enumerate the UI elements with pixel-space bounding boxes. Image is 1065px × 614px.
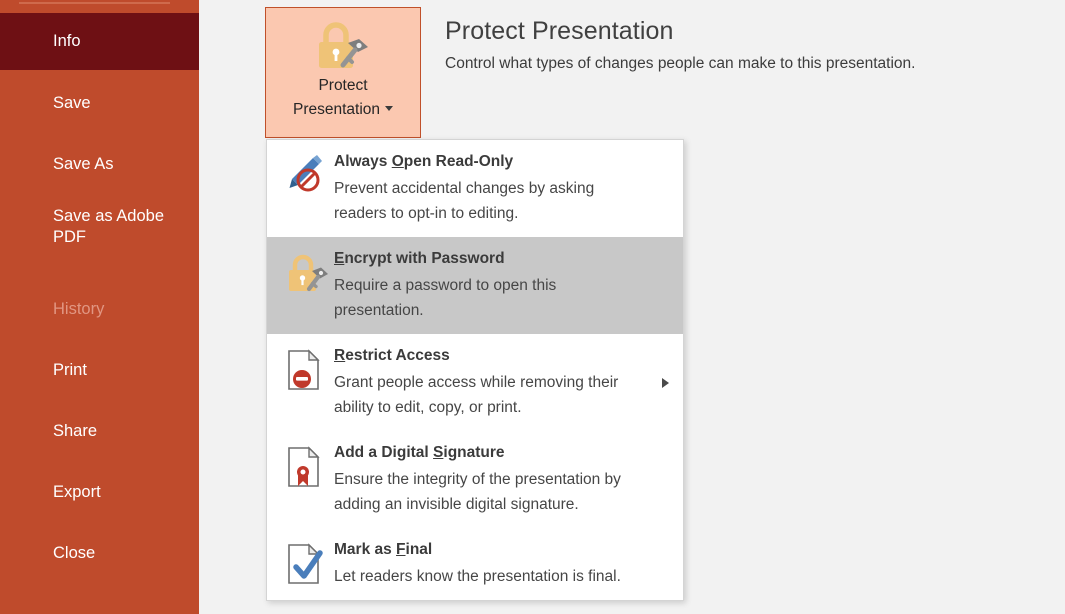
menu-item-description: Ensure the integrity of the presentation… bbox=[334, 467, 634, 517]
sidebar-item-cutoff-above[interactable] bbox=[0, 0, 199, 13]
menu-item-text: Always Open Read-Only Prevent accidental… bbox=[332, 151, 673, 226]
menu-item-description: Require a password to open this presenta… bbox=[334, 273, 634, 323]
sidebar-item-label: Info bbox=[53, 31, 81, 52]
sidebar-item-label: Print bbox=[53, 360, 87, 381]
sidebar-item-label: Save bbox=[53, 93, 91, 114]
protect-presentation-button[interactable]: Protect Presentation bbox=[265, 7, 421, 138]
document-signature-icon bbox=[284, 444, 332, 490]
menu-item-description: Prevent accidental changes by asking rea… bbox=[334, 176, 634, 226]
protect-presentation-button-label: Protect Presentation bbox=[293, 74, 393, 122]
document-check-icon bbox=[284, 541, 332, 587]
menu-item-title: Always Open Read-Only bbox=[334, 153, 513, 170]
menu-item-description: Let readers know the presentation is fin… bbox=[334, 564, 634, 589]
chevron-down-icon bbox=[385, 106, 393, 111]
sidebar-item-label: Save as Adobe PDF bbox=[53, 206, 164, 248]
page-subtitle: Control what types of changes people can… bbox=[445, 55, 915, 73]
sidebar-item-save-as-adobe-pdf[interactable]: Save as Adobe PDF bbox=[0, 203, 199, 265]
menu-item-title: Add a Digital Signature bbox=[334, 444, 505, 461]
protect-presentation-dropdown-menu: Always Open Read-Only Prevent accidental… bbox=[266, 139, 684, 601]
menu-item-text: Restrict Access Grant people access whil… bbox=[332, 345, 673, 420]
menu-item-mark-as-final[interactable]: Mark as Final Let readers know the prese… bbox=[267, 528, 683, 600]
sidebar-item-label: Share bbox=[53, 421, 97, 442]
sidebar-item-export[interactable]: Export bbox=[0, 473, 199, 511]
page-title: Protect Presentation bbox=[445, 17, 674, 46]
sidebar-item-history: History bbox=[0, 290, 199, 328]
sidebar-item-label: History bbox=[53, 299, 104, 320]
menu-item-encrypt-with-password[interactable]: Encrypt with Password Require a password… bbox=[267, 237, 683, 334]
menu-item-text: Mark as Final Let readers know the prese… bbox=[332, 539, 673, 589]
menu-item-title: Restrict Access bbox=[334, 347, 450, 364]
menu-item-add-a-digital-signature[interactable]: Add a Digital Signature Ensure the integ… bbox=[267, 431, 683, 528]
sidebar-item-share[interactable]: Share bbox=[0, 412, 199, 450]
menu-item-title: Encrypt with Password bbox=[334, 250, 505, 267]
menu-item-title: Mark as Final bbox=[334, 541, 432, 558]
sidebar-item-info[interactable]: Info bbox=[0, 13, 199, 70]
sidebar-item-save-as[interactable]: Save As bbox=[0, 145, 199, 183]
sidebar-item-close[interactable]: Close bbox=[0, 534, 199, 572]
powerpoint-backstage-info-screen: Info Save Save As Save as Adobe PDF Hist… bbox=[0, 0, 1065, 614]
sidebar-item-label: Save As bbox=[53, 154, 114, 175]
lock-key-icon bbox=[284, 250, 332, 296]
sidebar-item-label: Close bbox=[53, 543, 95, 564]
menu-item-description: Grant people access while removing their… bbox=[334, 370, 634, 420]
sidebar-item-print[interactable]: Print bbox=[0, 351, 199, 389]
menu-item-always-open-read-only[interactable]: Always Open Read-Only Prevent accidental… bbox=[267, 140, 683, 237]
menu-item-text: Encrypt with Password Require a password… bbox=[332, 248, 673, 323]
backstage-sidebar: Info Save Save As Save as Adobe PDF Hist… bbox=[0, 0, 199, 614]
pencil-no-edit-icon bbox=[284, 153, 332, 199]
menu-item-text: Add a Digital Signature Ensure the integ… bbox=[332, 442, 673, 517]
document-restricted-icon bbox=[284, 347, 332, 393]
sidebar-item-label: Export bbox=[53, 482, 101, 503]
sidebar-item-save[interactable]: Save bbox=[0, 84, 199, 122]
lock-key-icon bbox=[312, 21, 374, 71]
menu-item-restrict-access[interactable]: Restrict Access Grant people access whil… bbox=[267, 334, 683, 431]
submenu-arrow-icon[interactable] bbox=[662, 378, 669, 388]
